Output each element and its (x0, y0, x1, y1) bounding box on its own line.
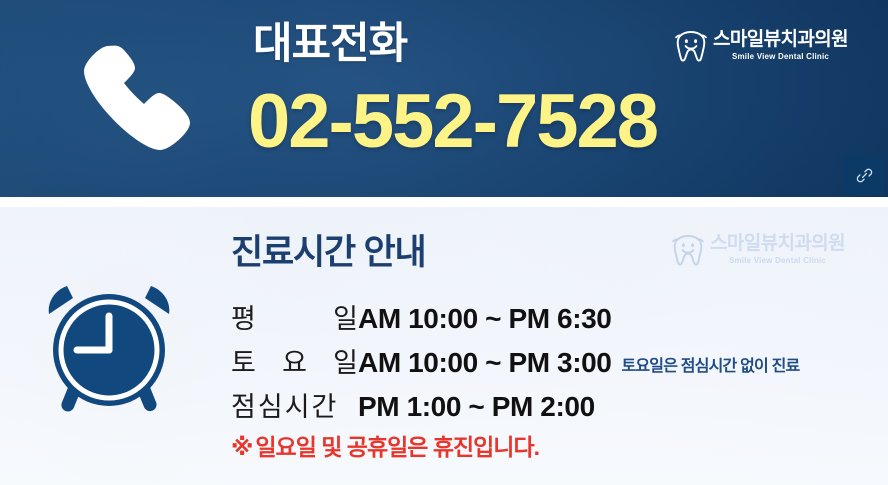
smiling-tooth-icon (675, 29, 707, 63)
asterisk-mark-icon: ※ (231, 434, 252, 460)
phone-banner: 대표전화 02-552-7528 스마일뷰치과의원 Smile View Den… (0, 0, 888, 197)
hours-row-saturday: 토요일 AM 10:00 ~ PM 3:00 토요일은 점심시간 없이 진료 (231, 341, 871, 385)
clinic-logo-top-names: 스마일뷰치과의원 Smile View Dental Clinic (713, 30, 848, 62)
phone-handset-icon (78, 38, 204, 160)
hours-day-lunch: 점심시간 (231, 385, 358, 424)
closed-notice: ※일요일 및 공휴일은 휴진입니다. (231, 428, 539, 462)
hours-time-weekday: AM 10:00 ~ PM 6:30 (358, 303, 611, 335)
chain-link-icon (855, 166, 874, 185)
phone-label: 대표전화 (253, 22, 407, 67)
hours-day-saturday: 토요일 (231, 341, 358, 380)
clinic-name-en: Smile View Dental Clinic (729, 255, 826, 266)
clinic-info-banner: 대표전화 02-552-7528 스마일뷰치과의원 Smile View Den… (0, 0, 888, 485)
smiling-tooth-icon (672, 233, 704, 267)
hours-time-lunch: PM 1:00 ~ PM 2:00 (358, 391, 595, 423)
clinic-name-en: Smile View Dental Clinic (732, 51, 829, 62)
link-badge[interactable] (844, 155, 884, 195)
phone-number[interactable]: 02-552-7528 (248, 82, 657, 162)
clinic-logo-top[interactable]: 스마일뷰치과의원 Smile View Dental Clinic (675, 29, 848, 63)
closed-notice-text: 일요일 및 공휴일은 휴진입니다. (255, 434, 539, 460)
hours-row-lunch: 점심시간 PM 1:00 ~ PM 2:00 (231, 385, 871, 429)
clinic-logo-bottom[interactable]: 스마일뷰치과의원 Smile View Dental Clinic (672, 233, 845, 267)
hours-time-saturday: AM 10:00 ~ PM 3:00 (358, 347, 611, 379)
hours-note-saturday: 토요일은 점심시간 없이 진료 (621, 352, 799, 376)
clinic-logo-bottom-names: 스마일뷰치과의원 Smile View Dental Clinic (710, 234, 845, 266)
alarm-clock-icon (33, 276, 185, 426)
hours-rows: 평일 AM 10:00 ~ PM 6:30 토요일 AM 10:00 ~ PM … (231, 297, 871, 429)
hours-day-weekday: 평일 (231, 297, 358, 336)
hours-row-weekday: 평일 AM 10:00 ~ PM 6:30 (231, 297, 871, 341)
clinic-name-ko: 스마일뷰치과의원 (713, 30, 848, 50)
clinic-name-ko: 스마일뷰치과의원 (710, 234, 845, 254)
hours-title: 진료시간 안내 (231, 234, 426, 273)
